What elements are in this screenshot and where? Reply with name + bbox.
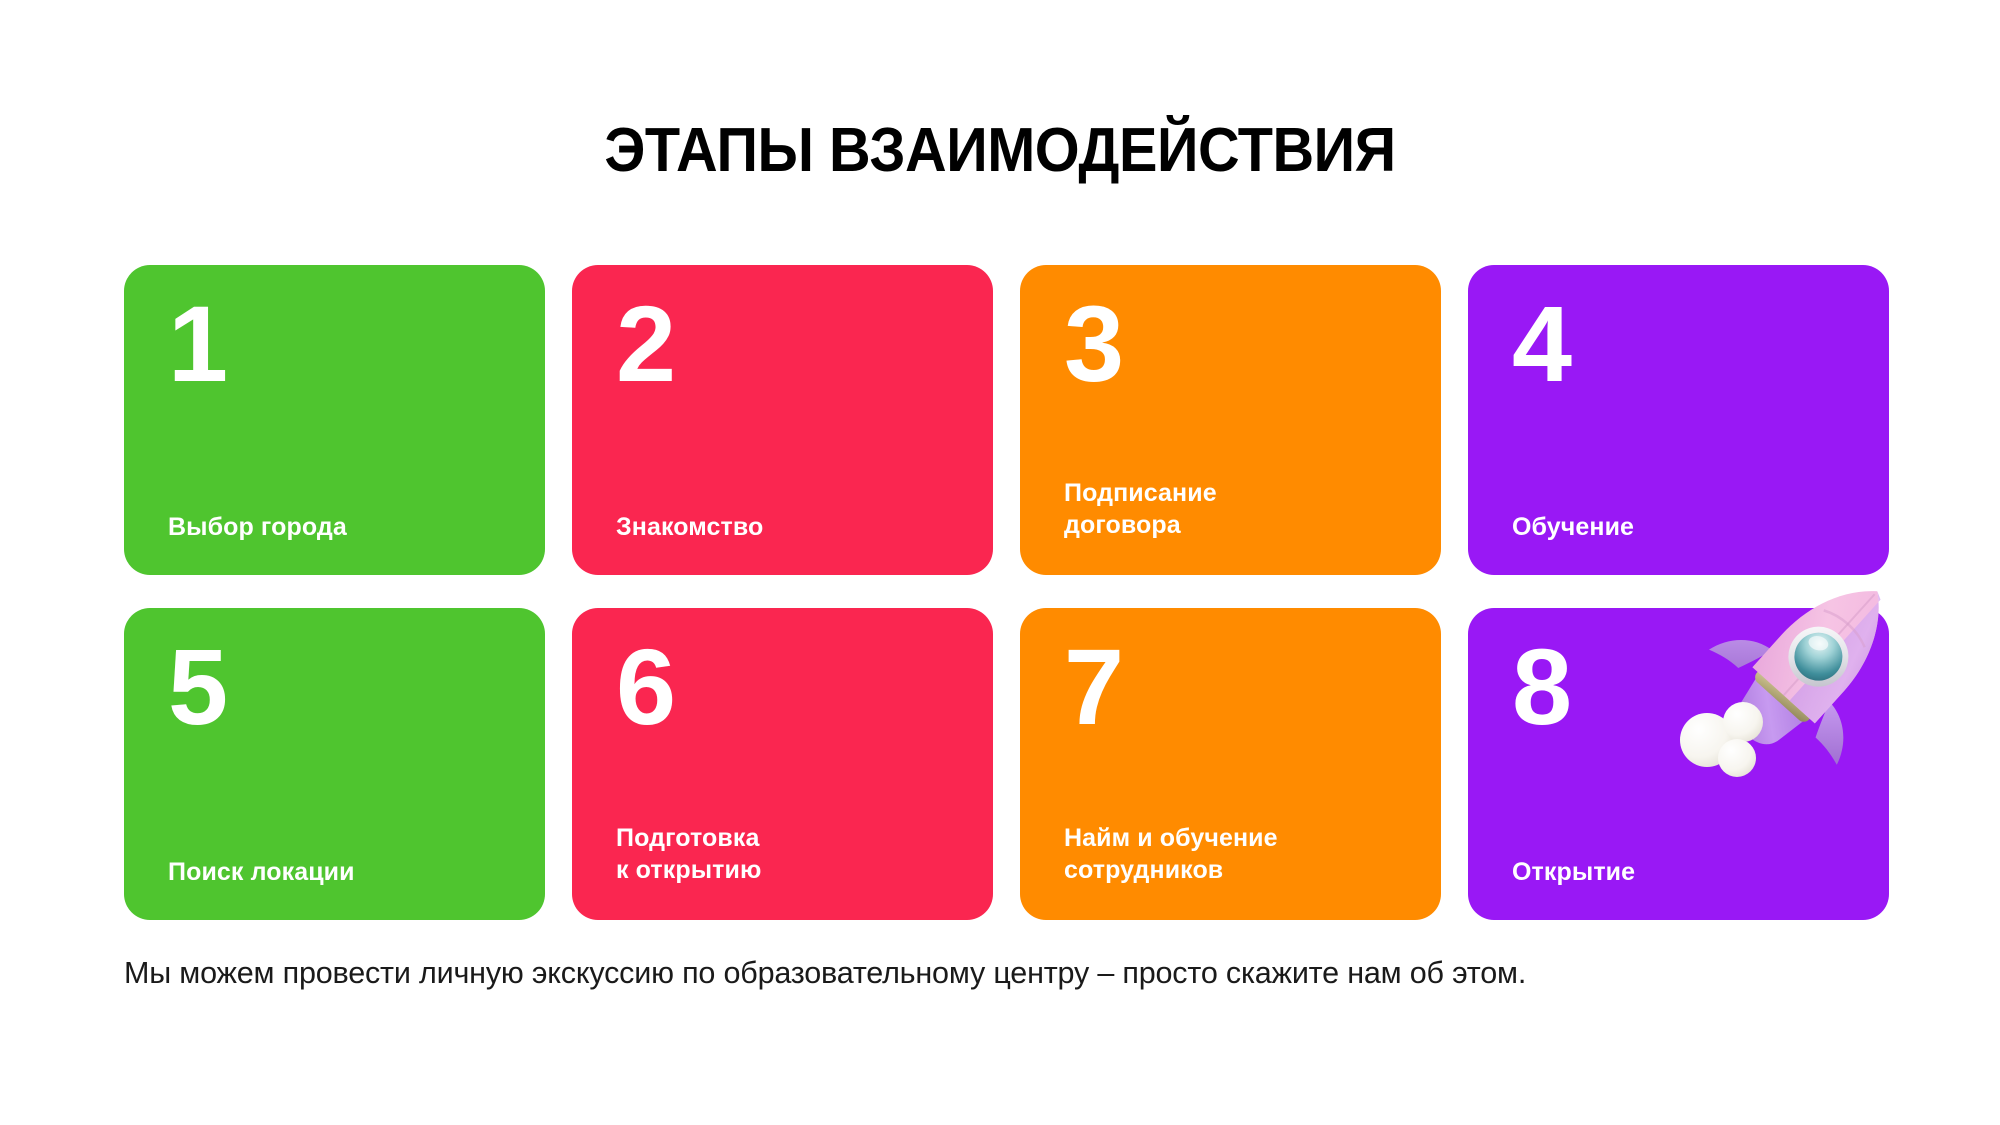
step-card-8[interactable]: 8 Открытие (1468, 608, 1889, 920)
step-card-3[interactable]: 3 Подписание договора (1020, 265, 1441, 575)
page-title: ЭТАПЫ ВЗАИМОДЕЙСТВИЯ (70, 118, 1930, 183)
step-card-6[interactable]: 6 Подготовка к открытию (572, 608, 993, 920)
step-label: Поиск локации (168, 856, 501, 888)
step-card-5[interactable]: 5 Поиск локации (124, 608, 545, 920)
step-card-4[interactable]: 4 Обучение (1468, 265, 1889, 575)
step-card-1[interactable]: 1 Выбор города (124, 265, 545, 575)
step-card-2[interactable]: 2 Знакомство (572, 265, 993, 575)
step-number: 1 (168, 293, 501, 396)
step-label: Подготовка к открытию (616, 822, 949, 886)
step-label: Подписание договора (1064, 477, 1397, 541)
step-number: 7 (1064, 636, 1397, 739)
step-number: 5 (168, 636, 501, 739)
step-number: 4 (1512, 293, 1845, 396)
step-label: Знакомство (616, 511, 949, 543)
step-number: 8 (1512, 636, 1845, 739)
footer-note: Мы можем провести личную экскуссию по об… (124, 953, 1858, 993)
step-card-7[interactable]: 7 Найм и обучение сотрудников (1020, 608, 1441, 920)
step-number: 2 (616, 293, 949, 396)
step-label: Выбор города (168, 511, 501, 543)
steps-grid: 1 Выбор города 2 Знакомство 3 Подписание… (124, 265, 1890, 920)
step-label: Открытие (1512, 856, 1845, 888)
slide-root: ЭТАПЫ ВЗАИМОДЕЙСТВИЯ 1 Выбор города 2 Зн… (0, 0, 2000, 1125)
step-number: 6 (616, 636, 949, 739)
step-number: 3 (1064, 293, 1397, 396)
step-label: Найм и обучение сотрудников (1064, 822, 1397, 886)
step-label: Обучение (1512, 511, 1845, 543)
